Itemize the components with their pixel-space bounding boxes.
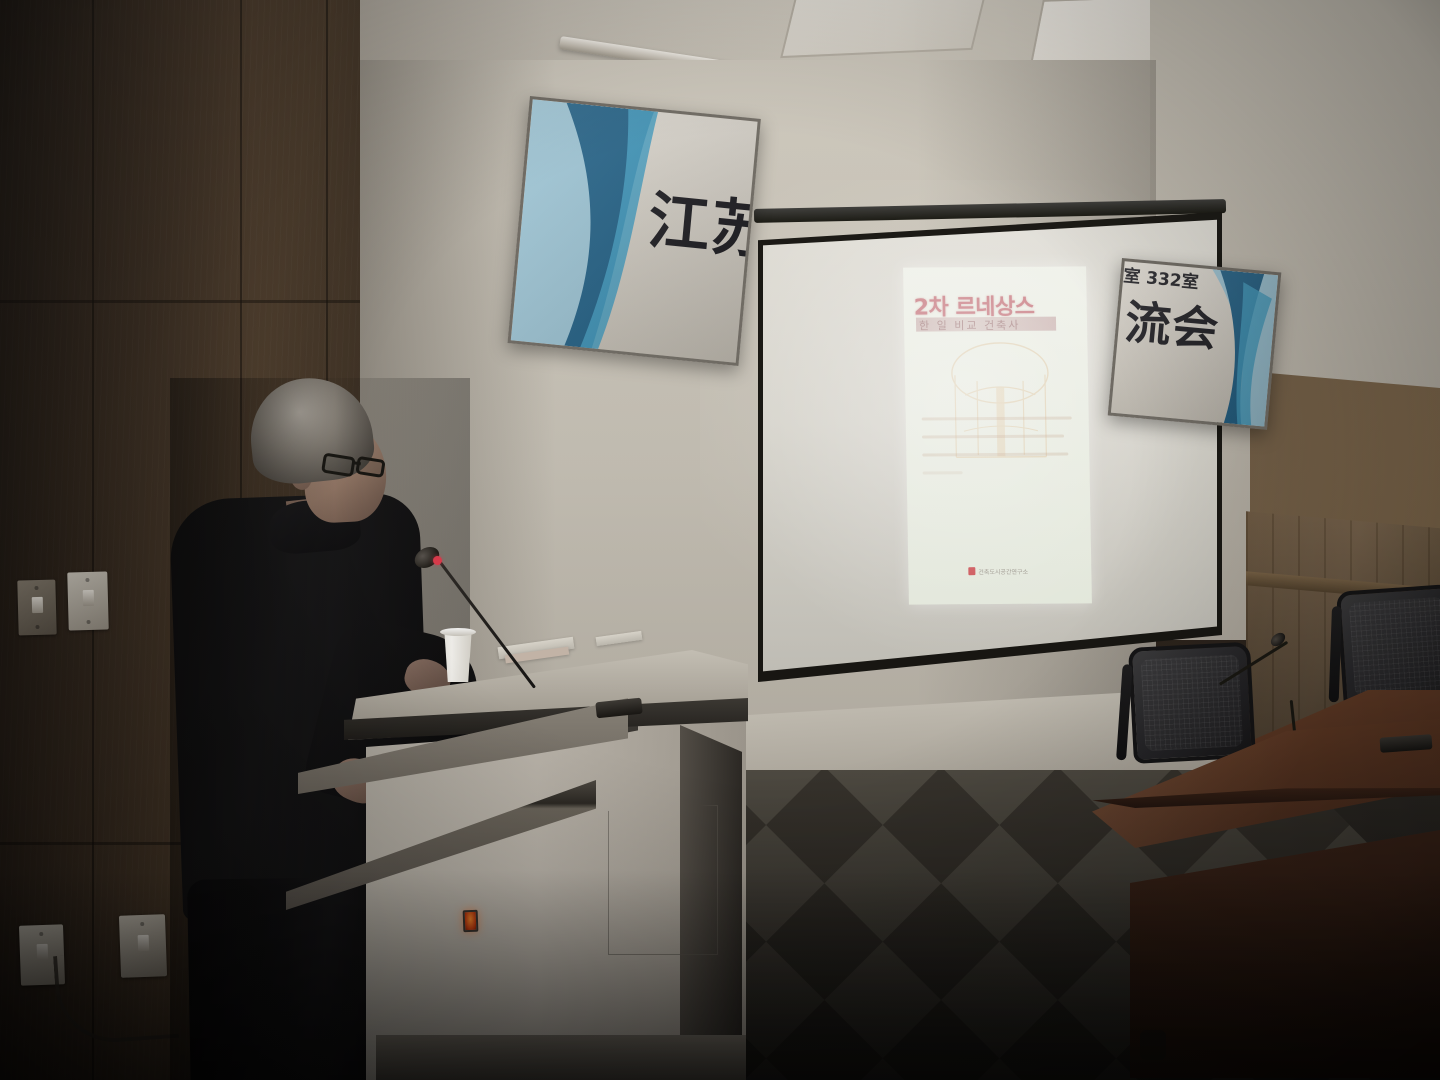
paper-cup-rim bbox=[440, 628, 476, 636]
plate-screw-icon bbox=[39, 932, 43, 936]
lectern bbox=[288, 640, 758, 1080]
lectern-access-panel bbox=[608, 805, 718, 955]
table-caster-wheel bbox=[1140, 1030, 1166, 1060]
outlet-icon[interactable] bbox=[138, 935, 150, 951]
glasses-lens-left bbox=[321, 453, 356, 478]
banner-right-headline: 流会 bbox=[1123, 286, 1223, 360]
banner-right: 流会 室 332室 bbox=[1108, 258, 1282, 430]
plate-screw-icon bbox=[85, 578, 89, 582]
lectern-base bbox=[376, 1035, 746, 1080]
conference-table bbox=[1092, 700, 1440, 1080]
wall-switch-plate-b[interactable] bbox=[67, 571, 109, 630]
plate-screw-icon bbox=[86, 620, 90, 624]
conference-room-photo: 2차 르네상스 한 일 비교 건축사 bbox=[0, 0, 1440, 1080]
plate-screw-icon bbox=[35, 625, 39, 629]
chair-mesh-texture bbox=[1349, 597, 1440, 697]
light-switch-icon[interactable] bbox=[32, 597, 43, 613]
plate-screw-icon bbox=[140, 922, 144, 926]
glasses-lens-right bbox=[355, 456, 385, 478]
wall-switch-plate-a[interactable] bbox=[17, 580, 56, 636]
lectern-power-indicator[interactable] bbox=[463, 910, 479, 933]
table-front-panel bbox=[1130, 828, 1440, 1078]
outlet-icon[interactable] bbox=[37, 944, 49, 960]
light-switch-icon[interactable] bbox=[83, 590, 94, 606]
plate-screw-icon bbox=[34, 586, 38, 590]
banner-left: 江苏 时间：2 bbox=[508, 96, 761, 366]
banner-left-headline: 江苏 bbox=[645, 170, 761, 272]
